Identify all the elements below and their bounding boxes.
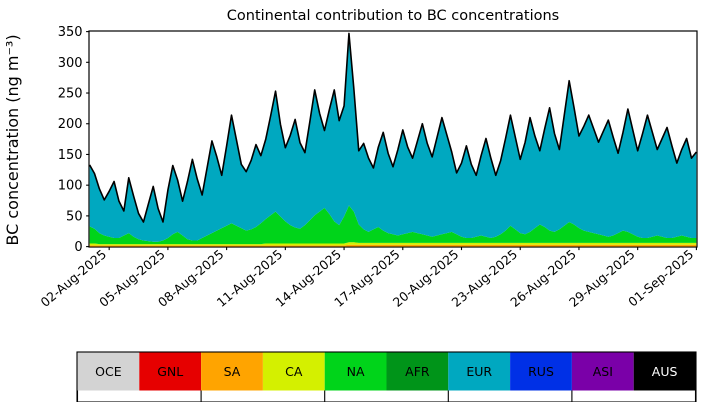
legend-label-sa: SA [224, 364, 241, 379]
y-tick-label: 0 [74, 240, 82, 255]
y-tick-label: 350 [58, 25, 83, 40]
area-series-other [90, 246, 697, 247]
legend-label-ca: CA [285, 364, 303, 379]
legend-label-oce: OCE [95, 364, 122, 379]
y-tick-label: 100 [58, 179, 83, 194]
y-tick-label: 250 [58, 87, 83, 102]
legend: OCEGNLSACANAAFREURRUSASIAUS [78, 353, 696, 391]
legend-label-rus: RUS [528, 364, 554, 379]
legend-label-eur: EUR [466, 364, 492, 379]
legend-label-asi: ASI [593, 364, 613, 379]
y-tick-label: 300 [58, 56, 83, 71]
y-tick-label: 50 [66, 209, 83, 224]
y-tick-label: 150 [58, 148, 83, 163]
chart-title: Continental contribution to BC concentra… [227, 8, 559, 24]
legend-label-aus: AUS [652, 364, 678, 379]
y-axis-label: BC concentration (ng m⁻³) [3, 34, 22, 245]
legend-label-afr: AFR [405, 364, 430, 379]
y-tick-label: 200 [58, 117, 83, 132]
legend-label-gnl: GNL [157, 364, 183, 379]
chart-figure: Continental contribution to BC concentra… [0, 0, 707, 402]
legend-label-na: NA [347, 364, 365, 379]
